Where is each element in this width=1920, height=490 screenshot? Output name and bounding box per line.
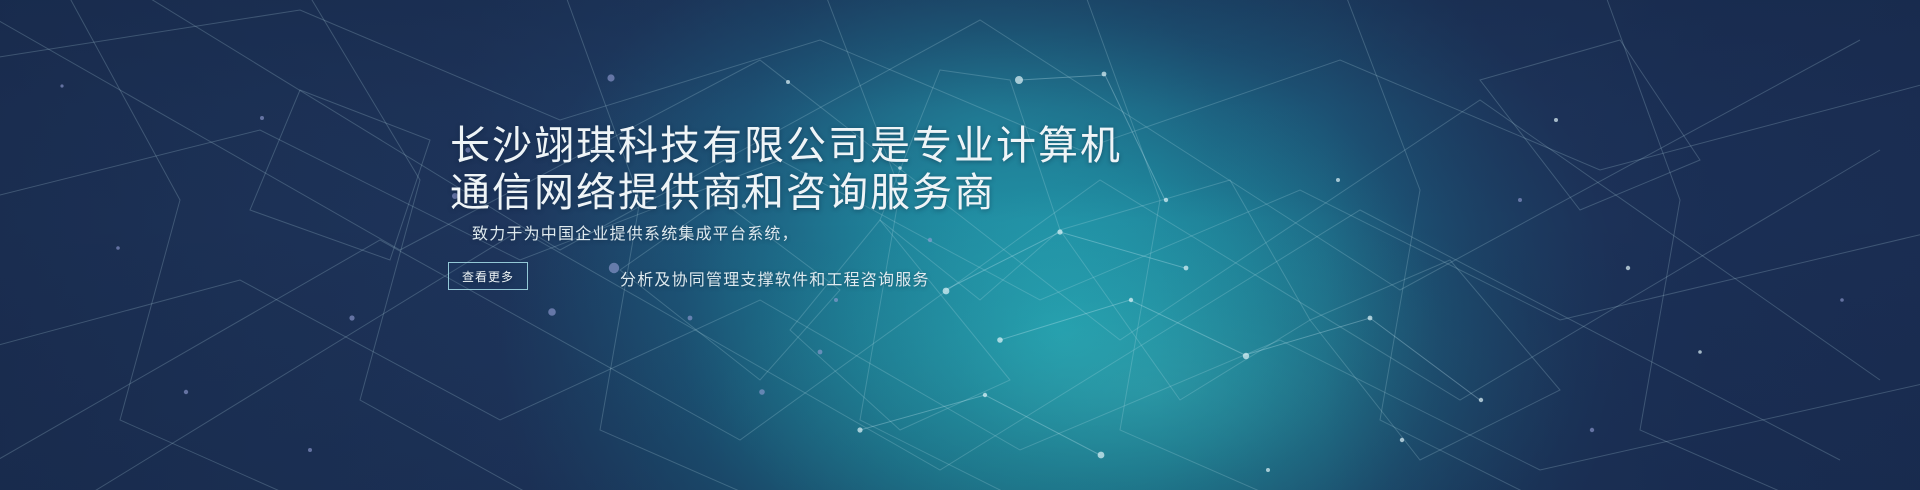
- subtitle-line-2: 分析及协同管理支撑软件和工程咨询服务: [450, 258, 1150, 304]
- banner-subtitle: 致力于为中国企业提供系统集成平台系统， 分析及协同管理支撑软件和工程咨询服务: [450, 212, 1150, 304]
- subtitle-line-1: 致力于为中国企业提供系统集成平台系统，: [450, 212, 1150, 258]
- headline-line-1: 长沙翊琪科技有限公司是专业计算机: [450, 122, 1122, 169]
- page-title: 长沙翊琪科技有限公司是专业计算机 通信网络提供商和咨询服务商: [450, 122, 1122, 216]
- hero-banner: 长沙翊琪科技有限公司是专业计算机 通信网络提供商和咨询服务商 致力于为中国企业提…: [0, 0, 1920, 490]
- view-more-button[interactable]: 查看更多: [448, 262, 528, 290]
- banner-content: 长沙翊琪科技有限公司是专业计算机 通信网络提供商和咨询服务商 致力于为中国企业提…: [0, 0, 1920, 490]
- headline-line-2: 通信网络提供商和咨询服务商: [450, 169, 1122, 216]
- view-more-button-label: 查看更多: [462, 268, 514, 285]
